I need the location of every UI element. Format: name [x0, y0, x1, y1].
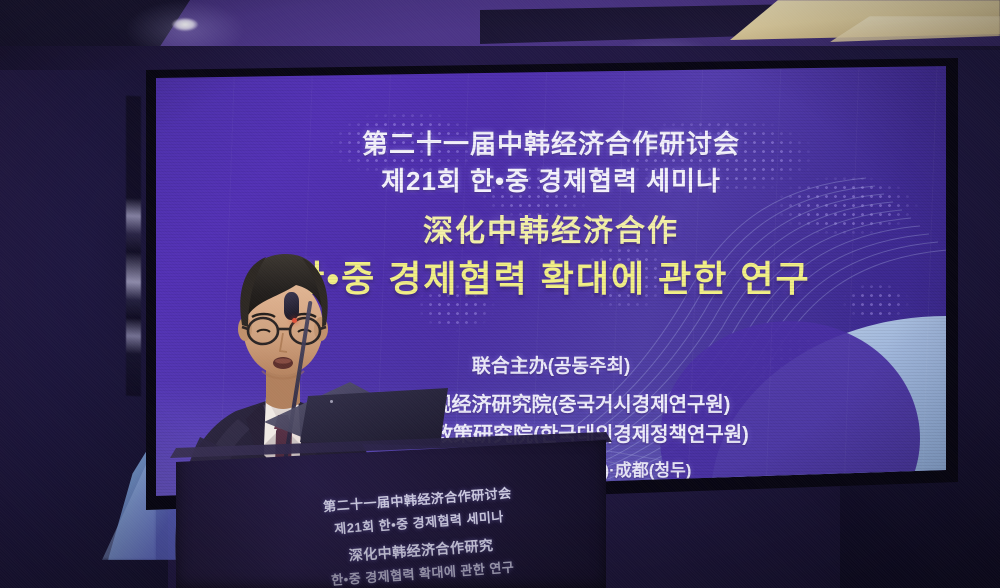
- downlight-left: [172, 18, 198, 31]
- laptop-lid: [300, 388, 448, 446]
- microphone-head: [284, 292, 299, 320]
- microphone-indicator-light: [292, 318, 297, 323]
- slide-title-korean: 제21회 한•중 경제협력 세미나: [156, 161, 946, 198]
- slide-title-chinese: 第二十一届中韩经济合作研讨会: [156, 124, 946, 161]
- laptop-webcam-dot: [330, 400, 333, 403]
- photo-scene: 第二十一届中韩经济合作研讨会 제21회 한•중 경제협력 세미나 深化中韩经济合…: [0, 0, 1000, 588]
- metal-trim-strip: [126, 96, 141, 397]
